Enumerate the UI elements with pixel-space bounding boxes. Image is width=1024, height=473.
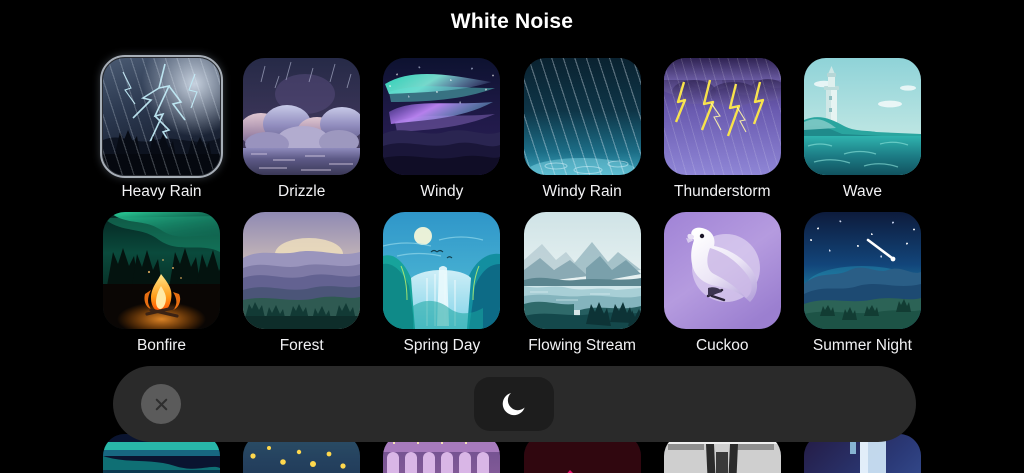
sound-label: Thunderstorm (674, 182, 770, 201)
windy-rain-artwork (524, 58, 641, 175)
sound-tile-cuckoo[interactable] (664, 212, 781, 329)
sound-tile-flowing-stream[interactable] (524, 212, 641, 329)
sound-label: Cuckoo (696, 336, 749, 355)
sound-label: Windy (420, 182, 463, 201)
sound-cell-forest[interactable]: Forest (243, 212, 360, 355)
sound-tile-bonfire[interactable] (103, 212, 220, 329)
spring-day-artwork (383, 212, 500, 329)
sound-tile-heavy-rain[interactable] (103, 58, 220, 175)
sound-grid: Heavy Rain (103, 58, 921, 355)
summer-night-artwork (804, 212, 921, 329)
sound-tile-windy[interactable] (383, 58, 500, 175)
sound-tile-spring-day[interactable] (383, 212, 500, 329)
sound-cell-cuckoo[interactable]: Cuckoo (664, 212, 781, 355)
sound-tile-forest[interactable] (243, 212, 360, 329)
sound-label: Spring Day (404, 336, 481, 355)
close-circle-icon[interactable] (141, 384, 181, 424)
sound-cell-spring-day[interactable]: Spring Day (383, 212, 500, 355)
sound-label: Wave (843, 182, 882, 201)
wave-artwork (804, 58, 921, 175)
heavy-rain-artwork (103, 58, 220, 175)
rain-streaks (664, 58, 781, 175)
thunderstorm-artwork (664, 58, 781, 175)
sound-tile-summer-night[interactable] (804, 212, 921, 329)
sound-cell-wave[interactable]: Wave (804, 58, 921, 201)
sound-cell-thunderstorm[interactable]: Thunderstorm (664, 58, 781, 201)
sound-label: Heavy Rain (121, 182, 201, 201)
close-icon-glyph (152, 395, 171, 414)
forest-artwork (243, 212, 360, 329)
sound-label: Forest (280, 336, 324, 355)
sound-cell-flowing-stream[interactable]: Flowing Stream (524, 212, 641, 355)
sound-tile-windy-rain[interactable] (524, 58, 641, 175)
sound-cell-bonfire[interactable]: Bonfire (103, 212, 220, 355)
sound-tile-thunderstorm[interactable] (664, 58, 781, 175)
sound-cell-heavy-rain[interactable]: Heavy Rain (103, 58, 220, 201)
sound-cell-drizzle[interactable]: Drizzle (243, 58, 360, 201)
flowing-stream-artwork (524, 212, 641, 329)
sound-cell-windy[interactable]: Windy (383, 58, 500, 201)
rain-streaks (103, 58, 220, 175)
sound-tile-drizzle[interactable] (243, 58, 360, 175)
sound-label: Drizzle (278, 182, 325, 201)
page-title: White Noise (0, 10, 1024, 34)
bottom-control-bar (113, 366, 916, 442)
sound-label: Flowing Stream (528, 336, 636, 355)
sound-label: Summer Night (813, 336, 912, 355)
cuckoo-artwork (664, 212, 781, 329)
moon-icon (499, 389, 529, 419)
sound-cell-windy-rain[interactable]: Windy Rain (524, 58, 641, 201)
bonfire-artwork (103, 212, 220, 329)
sound-label: Bonfire (137, 336, 186, 355)
drizzle-artwork (243, 58, 360, 175)
sound-cell-summer-night[interactable]: Summer Night (804, 212, 921, 355)
sound-label: Windy Rain (542, 182, 621, 201)
white-noise-screen: White Noise (0, 0, 1024, 473)
windy-artwork (383, 58, 500, 175)
moon-button[interactable] (474, 377, 554, 431)
sound-tile-wave[interactable] (804, 58, 921, 175)
rain-streaks (524, 58, 641, 175)
